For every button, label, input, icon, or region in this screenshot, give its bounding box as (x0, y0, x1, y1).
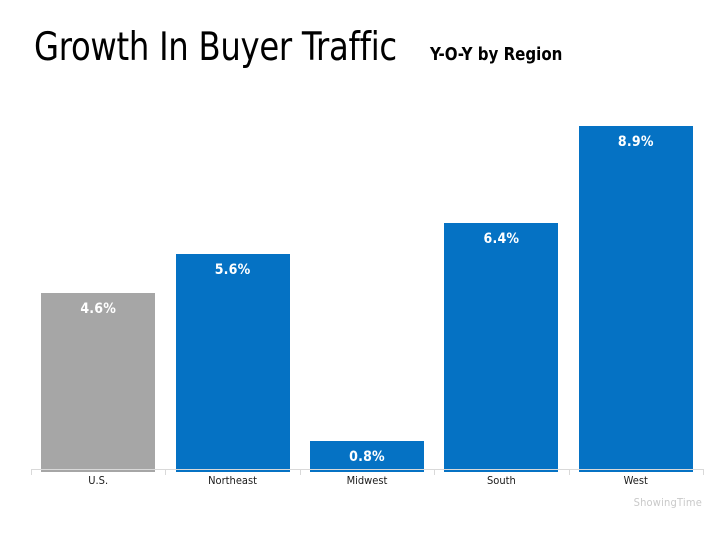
bar-rect: 5.6% (176, 254, 290, 472)
page-subtitle: Y-O-Y by Region (430, 46, 562, 64)
x-axis-tick (569, 469, 570, 475)
x-axis-tick (434, 469, 435, 475)
x-axis-tick (31, 469, 32, 475)
chart-plot-area: 4.6%5.6%0.8%6.4%8.9% (0, 100, 720, 472)
x-axis-label-west: West (569, 474, 703, 488)
bar-u-s: 4.6% (41, 100, 155, 472)
x-axis-tick (165, 469, 166, 475)
bar-rect: 4.6% (41, 293, 155, 472)
bar-value-label: 6.4% (444, 231, 558, 247)
bar-south: 6.4% (444, 100, 558, 472)
title-block: Growth In Buyer Traffic Y-O-Y by Region (34, 28, 694, 80)
x-axis-line (31, 469, 703, 470)
page-title: Growth In Buyer Traffic (34, 28, 397, 67)
slide-canvas: Growth In Buyer Traffic Y-O-Y by Region … (0, 0, 720, 540)
x-axis-label-south: South (434, 474, 568, 488)
bar-rect: 6.4% (444, 223, 558, 472)
x-axis-label-midwest: Midwest (300, 474, 434, 488)
bar-rect: 0.8% (310, 441, 424, 472)
x-axis-label-u-s: U.S. (31, 474, 165, 488)
bar-value-label: 8.9% (579, 134, 693, 150)
bar-value-label: 0.8% (310, 449, 424, 465)
bar-value-label: 4.6% (41, 301, 155, 317)
x-axis-label-northeast: Northeast (165, 474, 299, 488)
bar-rect: 8.9% (579, 126, 693, 472)
x-axis-tick (703, 469, 704, 475)
watermark-label: ShowingTime (634, 496, 702, 509)
bar-northeast: 5.6% (176, 100, 290, 472)
x-axis-tick (300, 469, 301, 475)
bar-value-label: 5.6% (176, 262, 290, 278)
bar-west: 8.9% (579, 100, 693, 472)
bar-midwest: 0.8% (310, 100, 424, 472)
